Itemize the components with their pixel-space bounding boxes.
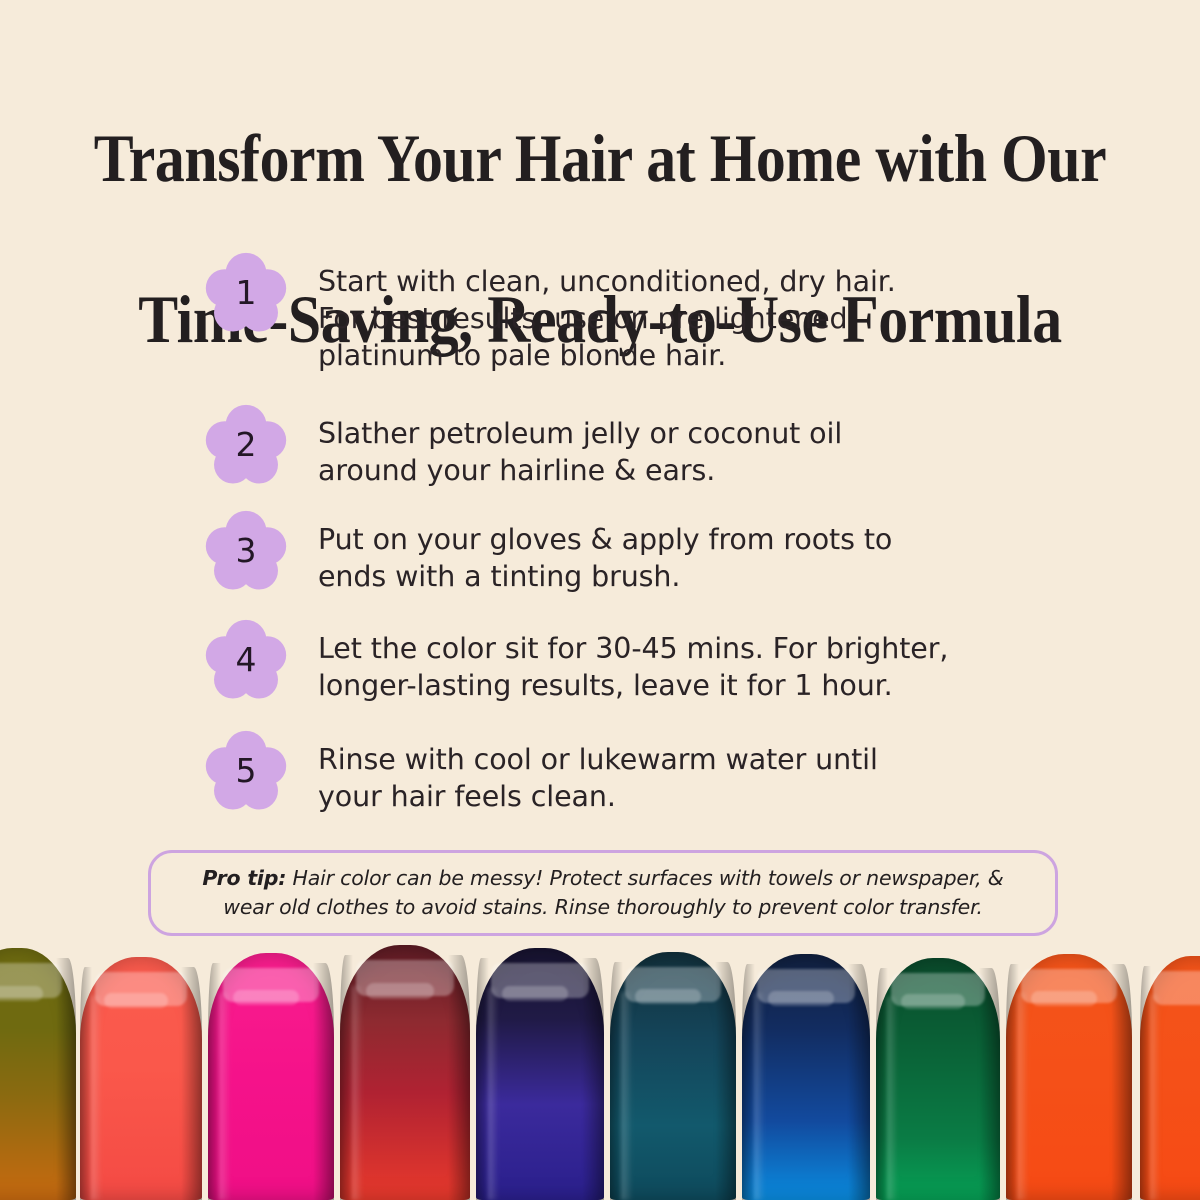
step-item-4: 4 Let the color sit for 30-45 mins. For …: [205, 619, 948, 704]
bottle-shadow-left: [1140, 966, 1151, 1200]
pro-tip-text: Pro tip: Hair color can be messy! Protec…: [177, 864, 1029, 922]
bottle-highlight-cap2: [366, 983, 434, 998]
step-number-5: 5: [236, 754, 257, 787]
bottle-highlight-cap2: [233, 990, 299, 1005]
bottle-hot-pink: [208, 953, 334, 1200]
step-item-1: 1 Start with clean, unconditioned, dry h…: [205, 252, 896, 374]
bottle-deep-teal: [610, 952, 736, 1200]
page-title: Transform Your Hair at Home with Our Tim…: [72, 38, 1128, 439]
page-title-line-1: Transform Your Hair at Home with Our: [72, 118, 1128, 198]
bottle-highlight-cap2: [502, 986, 569, 1001]
bottle-shadow-right: [448, 955, 470, 1200]
bottle-shadow-right: [582, 958, 604, 1200]
step-marker-3: 3: [205, 510, 287, 592]
infographic-page: Transform Your Hair at Home with Our Tim…: [0, 0, 1200, 1200]
step-item-3: 3 Put on your gloves & apply from roots …: [205, 510, 892, 595]
step-item-5: 5 Rinse with cool or lukewarm water unti…: [205, 730, 878, 815]
step-marker-4: 4: [205, 619, 287, 701]
bottle-highlight-cap: [1153, 971, 1200, 1005]
bottle-highlight-left: [621, 992, 632, 1200]
bottle-highlight-cap2: [768, 991, 835, 1006]
bottle-highlight-cap2: [901, 994, 965, 1009]
step-text-5: Rinse with cool or lukewarm water until …: [318, 730, 878, 815]
step-text-3: Put on your gloves & apply from roots to…: [318, 510, 892, 595]
bottle-shadow-left: [876, 968, 888, 1200]
step-number-4: 4: [236, 643, 257, 676]
step-marker-2: 2: [205, 404, 287, 486]
bottle-bright-orange: [1006, 954, 1132, 1200]
bottle-dark-crimson: [340, 945, 470, 1200]
bottle-shadow-right: [56, 958, 76, 1200]
bottle-shadow-right: [1111, 964, 1132, 1200]
bottle-highlight-left: [1017, 993, 1028, 1200]
bottle-highlight-left: [488, 988, 500, 1200]
bottle-highlight-left: [219, 993, 230, 1200]
bottle-shadow-left: [340, 955, 353, 1200]
bottle-shadow-right: [848, 964, 870, 1200]
bottle-highlight-left: [352, 986, 364, 1200]
bottle-coral-red: [80, 957, 202, 1200]
pro-tip-body: Hair color can be messy! Protect surface…: [223, 866, 1003, 919]
step-number-3: 3: [236, 534, 257, 567]
bottle-emerald-green: [876, 958, 1000, 1200]
bottle-bright-orange-edge: [1140, 956, 1200, 1200]
step-number-2: 2: [236, 428, 257, 461]
step-marker-1: 1: [205, 252, 287, 334]
bottle-shadow-right: [715, 962, 736, 1200]
bottle-highlight-cap2: [104, 993, 167, 1008]
bottle-shadow-left: [208, 963, 221, 1200]
step-item-2: 2 Slather petroleum jelly or coconut oil…: [205, 404, 842, 489]
bottle-shadow-left: [476, 958, 489, 1200]
pro-tip-box: Pro tip: Hair color can be messy! Protec…: [148, 850, 1058, 936]
bottle-shadow-right: [979, 968, 1000, 1200]
bottle-shadow-right: [181, 967, 202, 1200]
bottle-shadow-left: [80, 967, 92, 1200]
product-photo-strip: [0, 940, 1200, 1200]
pro-tip-label: Pro tip:: [202, 866, 286, 890]
bottle-highlight-left: [754, 993, 766, 1200]
bottle-royal-blue: [742, 954, 870, 1200]
bottle-indigo-violet: [476, 948, 604, 1200]
bottle-highlight-cap2: [1031, 991, 1097, 1006]
bottle-shadow-right: [313, 963, 334, 1200]
step-text-4: Let the color sit for 30-45 mins. For br…: [318, 619, 948, 704]
bottle-shadow-left: [610, 962, 623, 1200]
bottle-highlight-left: [91, 996, 102, 1200]
bottle-highlight-cap2: [0, 986, 43, 1001]
bottle-highlight-cap2: [635, 989, 701, 1004]
bottle-olive-green: [0, 948, 76, 1200]
step-number-1: 1: [236, 276, 257, 309]
bottle-highlight-left: [887, 997, 898, 1200]
bottle-shadow-left: [742, 964, 755, 1200]
step-marker-5: 5: [205, 730, 287, 812]
step-text-2: Slather petroleum jelly or coconut oil a…: [318, 404, 842, 489]
bottle-shadow-left: [1006, 964, 1019, 1200]
bottle-highlight-left: [1150, 995, 1160, 1200]
step-text-1: Start with clean, unconditioned, dry hai…: [318, 252, 896, 374]
